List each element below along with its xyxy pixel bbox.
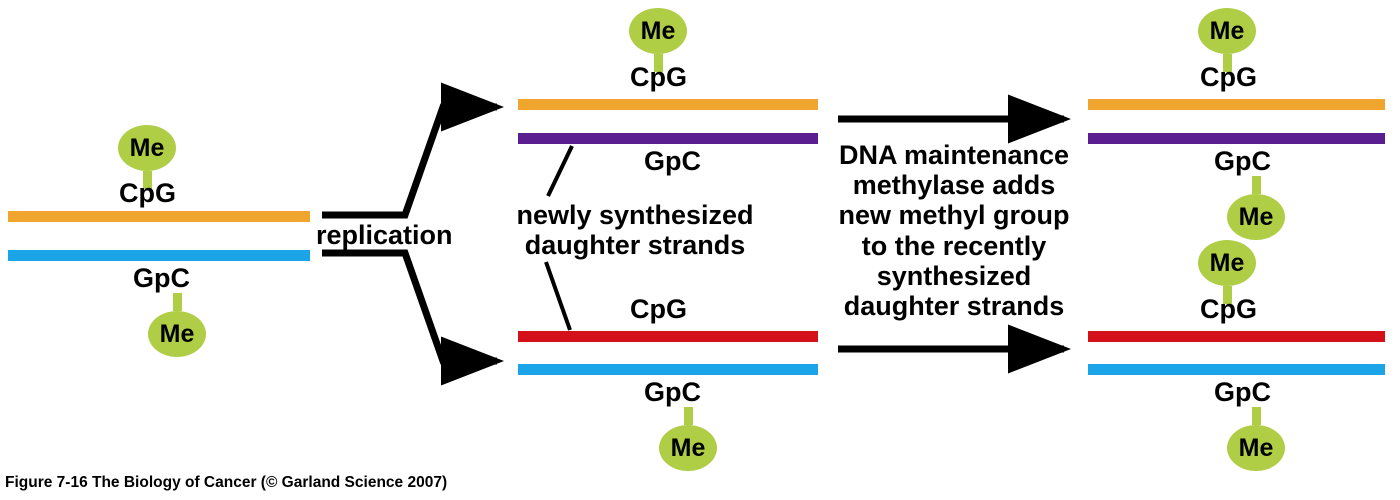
me-label: Me (659, 425, 717, 471)
new-daughter-strand-purple (518, 133, 818, 144)
parental-bottom-strand (8, 250, 310, 261)
replication-arrow-down (322, 253, 497, 361)
gpc-site-label: GpC (1214, 148, 1271, 175)
cpg-site-label: CpG (630, 296, 687, 323)
cpg-site-label: CpG (630, 64, 687, 91)
methyl-marker: Me (1227, 176, 1285, 240)
parental-top-strand (8, 211, 310, 222)
methyl-marker: Me (1227, 407, 1285, 471)
gpc-site-label: GpC (644, 148, 701, 175)
leader-line-purple (548, 146, 572, 196)
methylation-maintenance-figure: Me CpG GpC Me replication Me CpG GpC new… (0, 0, 1400, 500)
methyl-marker: Me (148, 293, 206, 357)
new-daughter-strand-red (1088, 331, 1385, 342)
me-stem (684, 407, 693, 425)
gpc-site-label: GpC (1214, 379, 1271, 406)
replication-arrow-up (322, 107, 497, 215)
methyl-marker: Me (659, 407, 717, 471)
parental-bottom-strand (518, 364, 818, 375)
cpg-site-label: CpG (119, 180, 176, 207)
gpc-site-label: GpC (644, 379, 701, 406)
parental-top-strand (1088, 99, 1385, 110)
me-stem (173, 293, 182, 311)
cpg-site-label: CpG (1200, 296, 1257, 323)
me-label: Me (1227, 194, 1285, 240)
replication-label: replication (316, 220, 453, 251)
me-label: Me (629, 8, 687, 54)
me-label: Me (148, 311, 206, 357)
me-label: Me (118, 125, 176, 171)
leader-line-red (546, 262, 570, 330)
gpc-site-label: GpC (133, 265, 190, 292)
figure-caption: Figure 7-16 The Biology of Cancer (© Gar… (5, 474, 447, 492)
me-stem (1252, 407, 1261, 425)
new-daughter-strand-red (518, 331, 818, 342)
parental-bottom-strand (1088, 364, 1385, 375)
me-label: Me (1198, 8, 1256, 54)
me-stem (1252, 176, 1261, 194)
me-label: Me (1198, 240, 1256, 286)
daughter-strand-annotation: newly synthesized daughter strands (495, 200, 775, 260)
new-daughter-strand-purple (1088, 133, 1385, 144)
me-label: Me (1227, 425, 1285, 471)
cpg-site-label: CpG (1200, 64, 1257, 91)
maintenance-methylase-text: DNA maintenance methylase adds new methy… (838, 140, 1070, 321)
parental-top-strand (518, 99, 818, 110)
